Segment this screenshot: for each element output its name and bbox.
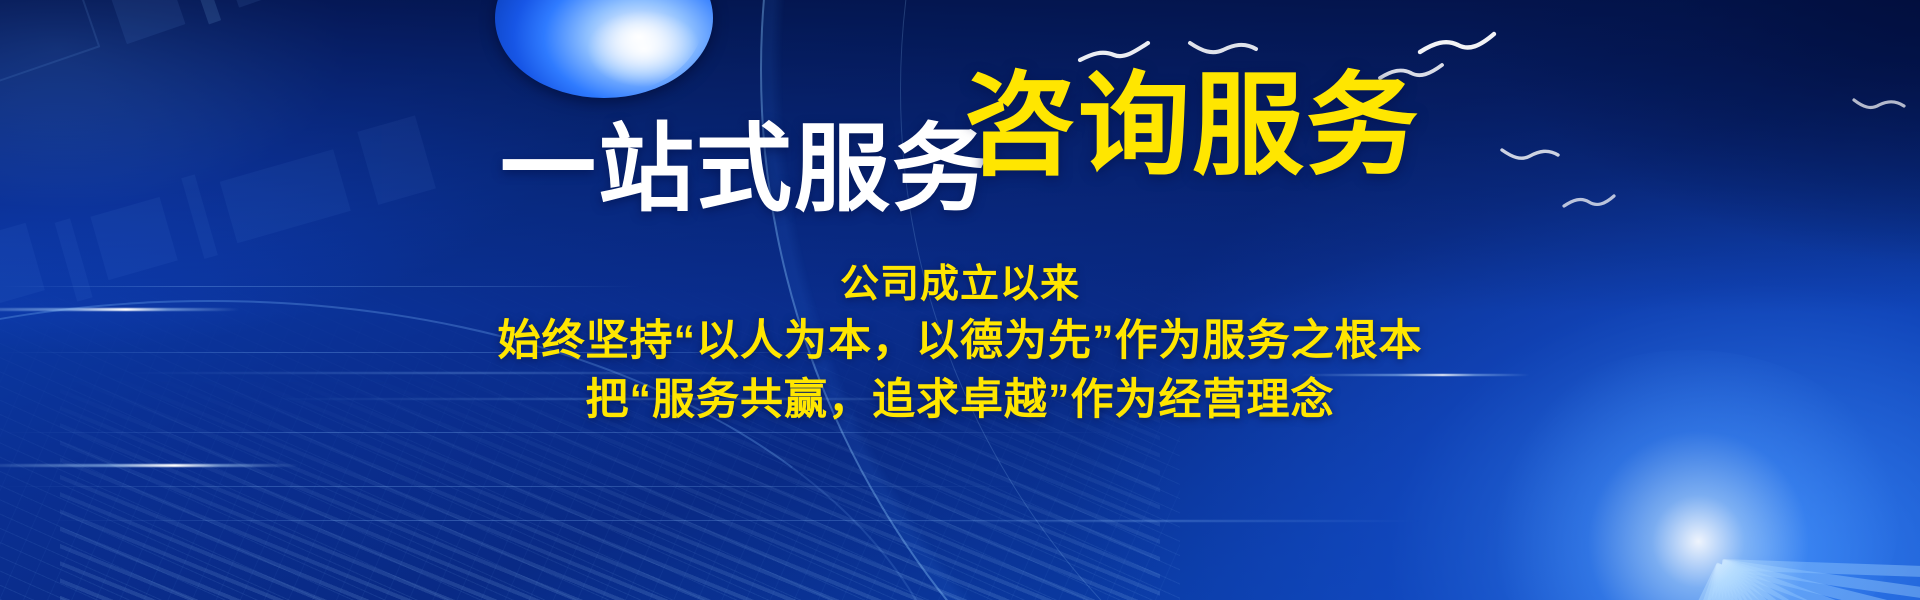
- banner-headline: 一站式服务咨询服务: [0, 86, 1920, 198]
- headline-primary-text: 一站式服务: [500, 116, 990, 223]
- service-banner: 一站式服务咨询服务 公司成立以来 始终坚持“以人为本，以德为先”作为服务之根本 …: [0, 0, 1920, 600]
- body-line: 公司成立以来: [0, 258, 1920, 312]
- headline-accent-text: 咨询服务: [964, 63, 1420, 188]
- body-line: 始终坚持“以人为本，以德为先”作为服务之根本: [0, 312, 1920, 371]
- banner-content: 一站式服务咨询服务 公司成立以来 始终坚持“以人为本，以德为先”作为服务之根本 …: [0, 0, 1920, 600]
- body-line: 把“服务共赢，追求卓越”作为经营理念: [0, 371, 1920, 430]
- banner-body-text: 公司成立以来 始终坚持“以人为本，以德为先”作为服务之根本 把“服务共赢，追求卓…: [0, 258, 1920, 430]
